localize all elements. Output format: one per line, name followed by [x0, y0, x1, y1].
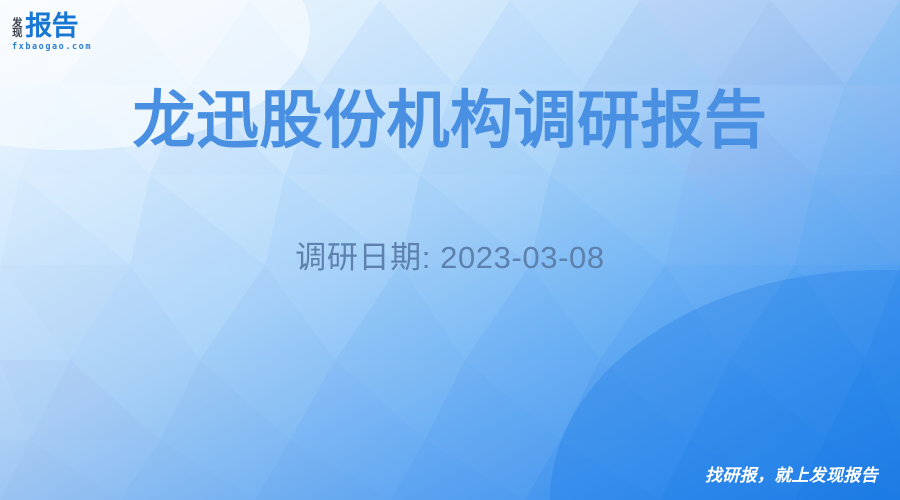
logo-wordmark-row: 发 现 报告: [12, 10, 112, 40]
logo-char-xian: 现: [12, 28, 22, 39]
page-title: 龙迅股份机构调研报告: [0, 87, 900, 155]
brand-tagline: 找研报，就上发现报告: [705, 461, 878, 486]
survey-date-subtitle: 调研日期: 2023-03-08: [0, 232, 900, 277]
logo-stacked-characters: 发 现: [12, 18, 22, 40]
logo-wordmark: 报告: [25, 14, 78, 40]
site-logo[interactable]: 发 现 报告 fxbaogao.com: [12, 10, 112, 52]
report-cover-page: 发 现 报告 fxbaogao.com 龙迅股份机构调研报告 调研日期: 202…: [0, 0, 900, 500]
logo-url: fxbaogao.com: [12, 42, 112, 52]
